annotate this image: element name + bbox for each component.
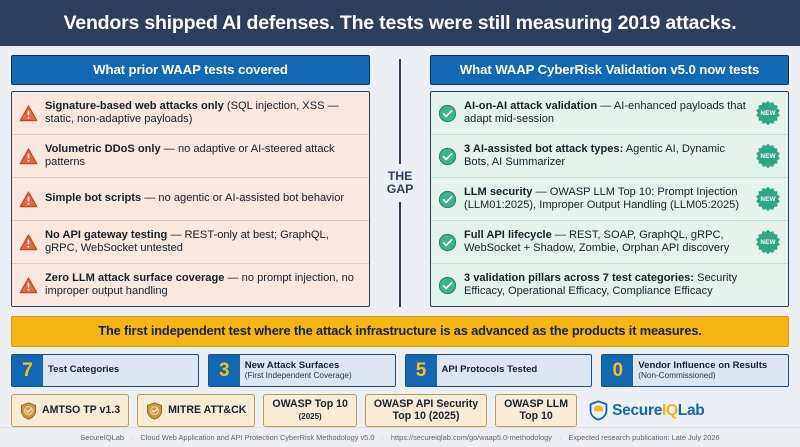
list-item: 3 validation pillars across 7 test categ… <box>431 263 788 306</box>
stat-meta: Vendor Influence on Results (Non-Commiss… <box>633 355 788 386</box>
stat-label: Test Categories <box>48 365 193 376</box>
stat-label: API Protocols Tested <box>442 365 587 376</box>
footer-publication: Expected research publication: Late July… <box>568 433 719 442</box>
stat-label: New Attack Surfaces <box>245 361 390 372</box>
list-item-text: LLM security — OWASP LLM Top 10: Prompt … <box>464 186 748 213</box>
check-circle-icon <box>438 190 457 209</box>
gap-line-top <box>399 59 401 164</box>
highlight-banner-text: The first independent test where the att… <box>98 323 701 338</box>
shield-logo-icon <box>589 400 608 421</box>
standard-chip-line1: OWASP API Security <box>374 399 478 410</box>
gap-line-bottom <box>399 202 401 307</box>
highlight-banner: The first independent test where the att… <box>11 316 789 347</box>
brand-part3: Lab <box>678 402 705 419</box>
footer-methodology: Cloud Web Application and API Protection… <box>140 433 374 442</box>
standard-chip-line2: Top 10 (2025) <box>374 411 478 422</box>
brand-part2: IQ <box>662 402 678 419</box>
header-bar: Vendors shipped AI defenses. The tests w… <box>0 0 800 46</box>
check-circle-icon <box>438 276 457 295</box>
list-item-bold: AI-on-AI attack validation <box>464 100 597 112</box>
list-item-text: 3 validation pillars across 7 test categ… <box>464 272 781 299</box>
new-badge-label: NEW <box>755 143 781 169</box>
stat-number: 7 <box>12 355 43 386</box>
list-item: Zero LLM attack surface coverage — no pr… <box>12 263 369 306</box>
standards-row: AMTSO TP v1.3 MITRE ATT&CK OWASP Top 10 … <box>11 394 789 427</box>
list-item: Full API lifecycle — REST, SOAP, GraphQL… <box>431 220 788 263</box>
new-badge-label: NEW <box>755 186 781 212</box>
standard-chip-line1: OWASP Top 10 <box>272 399 348 410</box>
standard-chip-owasp-api: OWASP API Security Top 10 (2025) <box>365 394 487 427</box>
standard-chip-line2: (2025) <box>272 411 348 422</box>
list-item: Signature-based web attacks only (SQL in… <box>12 92 369 134</box>
list-item-bold: 3 AI-assisted bot attack types: <box>464 143 623 155</box>
check-circle-icon <box>438 104 457 123</box>
left-column: What prior WAAP tests covered Signature-… <box>11 55 370 307</box>
gap-label-line2: GAP <box>387 183 414 196</box>
standard-chip-amtso: AMTSO TP v1.3 <box>11 394 129 427</box>
standard-chip-text: OWASP API Security Top 10 (2025) <box>374 399 478 422</box>
list-item-bold: Signature-based web attacks only <box>45 100 224 112</box>
new-badge: NEW <box>755 229 781 255</box>
list-item-text: Signature-based web attacks only (SQL in… <box>45 100 362 127</box>
brand-logo: SecureIQLab <box>589 400 704 421</box>
right-column: What WAAP CyberRisk Validation v5.0 now … <box>430 55 789 307</box>
stat-card: 7 Test Categories <box>11 354 199 387</box>
gap-label: THE GAP <box>387 164 414 203</box>
footer-separator: · <box>131 433 133 442</box>
stat-card: 0 Vendor Influence on Results (Non-Commi… <box>601 354 789 387</box>
stat-card: 5 API Protocols Tested <box>405 354 593 387</box>
list-item-text: Simple bot scripts — no agentic or AI-as… <box>45 192 362 205</box>
comparison-columns: What prior WAAP tests covered Signature-… <box>0 46 800 307</box>
left-items-list: Signature-based web attacks only (SQL in… <box>11 91 370 307</box>
list-item-text: Volumetric DDoS only — no adaptive or AI… <box>45 143 362 170</box>
stat-number: 5 <box>406 355 437 386</box>
new-badge: NEW <box>755 186 781 212</box>
list-item: Simple bot scripts — no agentic or AI-as… <box>12 177 369 220</box>
list-item-text: Zero LLM attack surface coverage — no pr… <box>45 272 362 299</box>
page-title: Vendors shipped AI defenses. The tests w… <box>64 12 737 35</box>
the-gap-divider: THE GAP <box>370 55 430 307</box>
list-item-bold: 3 validation pillars across 7 test categ… <box>464 272 694 284</box>
list-item-text: Full API lifecycle — REST, SOAP, GraphQL… <box>464 229 748 256</box>
list-item-text: No API gateway testing — REST-only at be… <box>45 229 362 256</box>
standard-chip-text: OWASP Top 10 (2025) <box>272 399 348 422</box>
list-item-bold: Simple bot scripts <box>45 192 141 204</box>
stat-meta: New Attack Surfaces (First Independent C… <box>240 355 395 386</box>
standard-chip-text: OWASP LLM Top 10 <box>504 399 568 422</box>
warning-triangle-icon <box>19 104 38 123</box>
list-item-rest: — no agentic or AI-assisted bot behavior <box>141 192 344 204</box>
standard-chip-line2: Top 10 <box>504 411 568 422</box>
standard-chip-line1: OWASP LLM <box>504 399 568 410</box>
check-circle-icon <box>438 147 457 166</box>
standard-chip-owasp-top10: OWASP Top 10 (2025) <box>263 394 357 427</box>
stat-number: 3 <box>209 355 240 386</box>
stats-row: 7 Test Categories 3 New Attack Surfaces … <box>11 354 789 387</box>
brand-part1: Secure <box>612 402 662 419</box>
standard-chip-text: AMTSO TP v1.3 <box>42 405 120 416</box>
stat-label: Vendor Influence on Results <box>638 361 783 372</box>
standard-chip-line1: MITRE ATT&CK <box>168 405 246 416</box>
new-badge-label: NEW <box>755 229 781 255</box>
check-circle-icon <box>438 233 457 252</box>
footer-url[interactable]: https://secureiqlab.com/go/waap5.0-metho… <box>391 433 552 442</box>
list-item-bold: Volumetric DDoS only <box>45 143 161 155</box>
list-item: No API gateway testing — REST-only at be… <box>12 220 369 263</box>
standard-chip-text: MITRE ATT&CK <box>168 405 246 416</box>
shield-check-icon <box>20 402 37 420</box>
standard-chip-line1: AMTSO TP v1.3 <box>42 405 120 416</box>
left-column-heading: What prior WAAP tests covered <box>11 55 370 85</box>
warning-triangle-icon <box>19 233 38 252</box>
list-item-text: AI-on-AI attack validation — AI-enhanced… <box>464 100 748 127</box>
shield-check-icon <box>146 402 163 420</box>
stat-sublabel: (Non-Commissioned) <box>638 371 783 380</box>
new-badge: NEW <box>755 100 781 126</box>
stat-meta: Test Categories <box>43 355 198 386</box>
list-item-bold: LLM security <box>464 186 532 198</box>
footer-bar: SecureIQLab · Cloud Web Application and … <box>0 427 800 447</box>
warning-triangle-icon <box>19 190 38 209</box>
brand-wordmark: SecureIQLab <box>612 402 704 420</box>
warning-triangle-icon <box>19 147 38 166</box>
new-badge: NEW <box>755 143 781 169</box>
list-item: Volumetric DDoS only — no adaptive or AI… <box>12 134 369 177</box>
right-items-list: AI-on-AI attack validation — AI-enhanced… <box>430 91 789 307</box>
warning-triangle-icon <box>19 276 38 295</box>
right-column-heading: What WAAP CyberRisk Validation v5.0 now … <box>430 55 789 85</box>
new-badge-label: NEW <box>755 100 781 126</box>
list-item-text: 3 AI-assisted bot attack types: Agentic … <box>464 143 748 170</box>
infographic-root: Vendors shipped AI defenses. The tests w… <box>0 0 800 447</box>
list-item-bold: Zero LLM attack surface coverage <box>45 272 224 284</box>
stat-sublabel: (First Independent Coverage) <box>245 371 390 380</box>
stat-card: 3 New Attack Surfaces (First Independent… <box>208 354 396 387</box>
list-item-bold: No API gateway testing <box>45 229 167 241</box>
list-item: AI-on-AI attack validation — AI-enhanced… <box>431 92 788 134</box>
list-item: 3 AI-assisted bot attack types: Agentic … <box>431 134 788 177</box>
standard-chip-owasp-llm: OWASP LLM Top 10 <box>495 394 577 427</box>
footer-separator: · <box>381 433 383 442</box>
stat-number: 0 <box>602 355 633 386</box>
gap-label-line1: THE <box>387 170 414 183</box>
list-item: LLM security — OWASP LLM Top 10: Prompt … <box>431 177 788 220</box>
footer-org: SecureIQLab <box>80 433 124 442</box>
standard-chip-mitre: MITRE ATT&CK <box>137 394 255 427</box>
list-item-bold: Full API lifecycle <box>464 229 552 241</box>
stat-meta: API Protocols Tested <box>437 355 592 386</box>
footer-separator: · <box>559 433 561 442</box>
